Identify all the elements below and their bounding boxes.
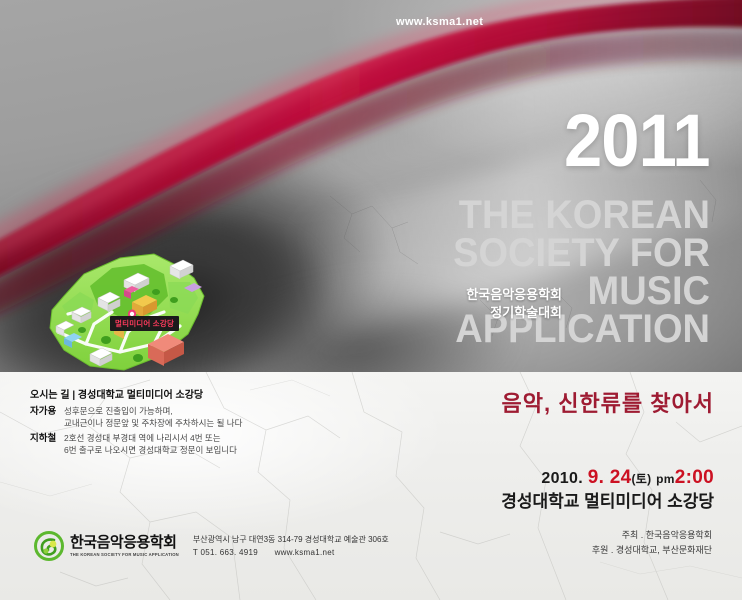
title-line-2: SOCIETY FOR [311, 234, 710, 272]
subway-line-1: 2호선 경성대 부경대 역에 나리시서 4번 또는 [64, 432, 237, 444]
korean-subtitle-line-1: 한국음악응용학회 [452, 286, 562, 304]
footer-block: 한국음악응용학회 THE KOREAN SOCIETY FOR MUSIC AP… [34, 531, 389, 561]
directions-text-car: 성후문으로 진출입이 가능하며, 교내근이나 정문앞 및 주차장에 주차하시는 … [64, 405, 242, 429]
event-venue: 경성대학교 멀티미디어 소강당 [501, 490, 714, 514]
directions-block: 오시는 길 | 경성대학교 멀티미디어 소강당 자가용 성후문으로 진출입이 가… [30, 386, 242, 459]
time-value: 2:00 [675, 467, 714, 488]
date-weekday: (토) [631, 472, 651, 486]
conference-poster: www.ksma1.net 2011 THE KOREAN SOCIETY FO… [0, 0, 742, 600]
year-heading: 2011 [564, 104, 710, 178]
society-logo-text: 한국음악응용학회 THE KOREAN SOCIETY FOR MUSIC AP… [70, 535, 179, 558]
korean-subtitle-line-2: 정기학술대회 [452, 304, 562, 322]
directions-row-car: 자가용 성후문으로 진출입이 가능하며, 교내근이나 정문앞 및 주차장에 주차… [30, 405, 242, 429]
directions-heading: 오시는 길 | 경성대학교 멀티미디어 소강당 [30, 386, 242, 401]
society-name-heading: THE KOREAN SOCIETY FOR MUSIC APPLICATION [311, 196, 710, 348]
title-line-1: THE KOREAN [311, 196, 710, 234]
date-daymonth: 9. 24 [588, 467, 632, 488]
directions-label-subway: 지하철 [30, 432, 64, 445]
top-website-url[interactable]: www.ksma1.net [396, 16, 483, 28]
organizers-block: 주최 . 한국음악응용학회 후원 . 경성대학교, 부산문화재단 [592, 528, 712, 558]
directions-label-car: 자가용 [30, 405, 64, 418]
directions-text-subway: 2호선 경성대 부경대 역에 나리시서 4번 또는 6번 출구로 나오시면 경성… [64, 432, 237, 456]
logo-english-name: THE KOREAN SOCIETY FOR MUSIC APPLICATION [70, 550, 179, 558]
date-prefix: 2010. [541, 470, 583, 487]
time-meridiem: pm [656, 472, 675, 486]
subway-line-2: 6번 출구로 나오시면 경성대학교 정문이 보입니다 [64, 444, 237, 456]
sponsor-line: 후원 . 경성대학교, 부산문화재단 [592, 543, 712, 558]
car-line-1: 성후문으로 진출입이 가능하며, [64, 405, 242, 417]
korean-subtitle: 한국음악응용학회 정기학술대회 [452, 286, 562, 322]
event-datetime-block: 2010. 9. 24(토) pm2:00 경성대학교 멀티미디어 소강당 [501, 467, 714, 514]
car-line-2: 교내근이나 정문앞 및 주차장에 주차하시는 될 나다 [64, 417, 242, 429]
logo-korean-name: 한국음악응용학회 [70, 535, 179, 551]
contact-line-2: T 051. 663. 4919 www.ksma1.net [193, 546, 389, 559]
contact-phone: T 051. 663. 4919 [193, 548, 258, 557]
contact-address: 부산광역시 남구 대연3동 314-79 경성대학교 예술관 306호 [193, 533, 389, 546]
contact-info: 부산광역시 남구 대연3동 314-79 경성대학교 예술관 306호 T 05… [193, 533, 389, 559]
host-line: 주최 . 한국음악응용학회 [592, 528, 712, 543]
society-logo-icon [34, 531, 64, 561]
directions-row-subway: 지하철 2호선 경성대 부경대 역에 나리시서 4번 또는 6번 출구로 나오시… [30, 432, 242, 456]
map-pin-label: 멀티미디어 소강당 [110, 316, 179, 331]
event-date-line: 2010. 9. 24(토) pm2:00 [501, 467, 714, 490]
contact-website[interactable]: www.ksma1.net [275, 548, 335, 557]
tagline: 음악, 신한류를 찾아서 [502, 386, 715, 418]
